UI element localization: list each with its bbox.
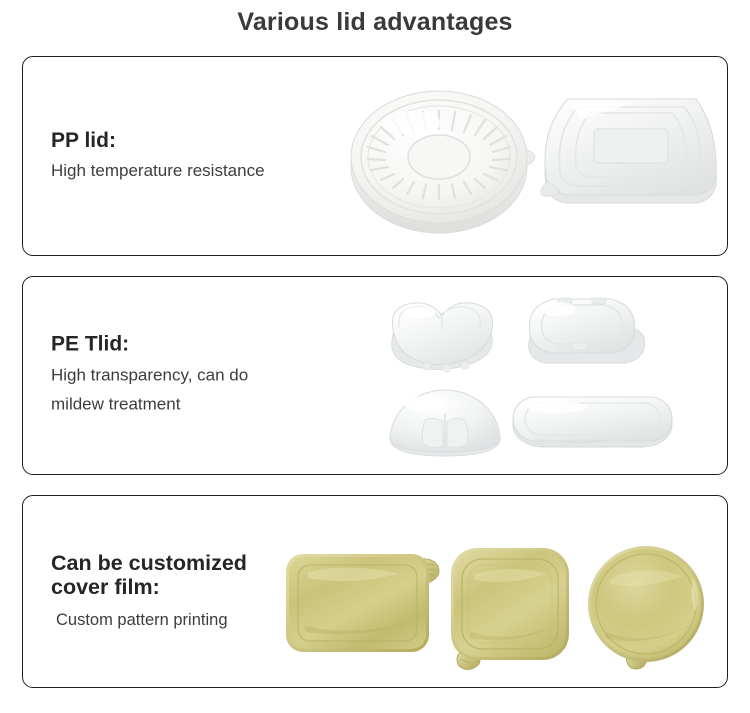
card-gold-heading-line1: Can be customized <box>51 550 247 574</box>
card-gold-cover-film: Can be customized cover film: Custom pat… <box>22 495 728 688</box>
card-pe-text-block: PE Tlid: High transparency, can do milde… <box>51 332 351 419</box>
card-gold-artwork <box>333 496 727 687</box>
heart-dome-lid-image <box>375 289 510 379</box>
card-pe-subtitle-line2: mildew treatment <box>51 394 180 413</box>
round-dome-lid-image <box>380 382 510 464</box>
card-pe-heading: PE Tlid: <box>51 332 351 356</box>
card-pp-artwork <box>333 57 727 255</box>
card-pe-subtitle: High transparency, can do mildew treatme… <box>51 361 351 419</box>
oval-flat-lid-image <box>505 389 680 461</box>
card-pe-subtitle-line1: High transparency, can do <box>51 365 248 384</box>
card-pp-text-block: PP lid: High temperature resistance <box>51 129 351 183</box>
card-pe-lid: PE Tlid: High transparency, can do milde… <box>22 276 728 475</box>
square-dome-lid-image <box>516 285 646 377</box>
gold-square-foil-lid-image <box>443 544 578 672</box>
card-pp-heading: PP lid: <box>51 129 351 153</box>
page-title: Various lid advantages <box>0 8 750 37</box>
card-pp-subtitle: High temperature resistance <box>51 158 351 183</box>
card-gold-heading-line2: cover film: <box>51 575 160 599</box>
card-pp-lid: PP lid: High temperature resistance <box>22 56 728 256</box>
card-pe-artwork <box>333 277 727 474</box>
rectangular-pp-lid-image <box>526 77 736 217</box>
gold-rectangular-foil-lid-image <box>278 546 448 658</box>
gold-round-foil-lid-image <box>581 544 716 672</box>
